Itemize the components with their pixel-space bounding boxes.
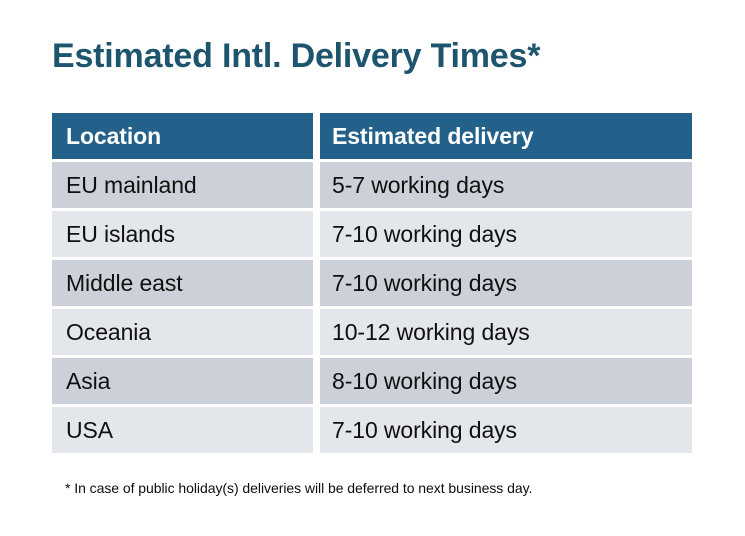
cell-estimated-delivery: 7-10 working days bbox=[320, 407, 692, 453]
table-row: EU mainland 5-7 working days bbox=[52, 162, 692, 208]
cell-estimated-delivery-value: 8-10 working days bbox=[332, 368, 517, 395]
cell-estimated-delivery: 7-10 working days bbox=[320, 260, 692, 306]
column-header-location: Location bbox=[52, 113, 313, 159]
column-header-estimated-delivery-label: Estimated delivery bbox=[332, 123, 533, 150]
cell-estimated-delivery-value: 7-10 working days bbox=[332, 221, 517, 248]
cell-location: Oceania bbox=[52, 309, 313, 355]
table-row: Oceania 10-12 working days bbox=[52, 309, 692, 355]
cell-location-value: USA bbox=[66, 417, 113, 444]
table-header-row: Location Estimated delivery bbox=[52, 113, 692, 159]
cell-estimated-delivery: 10-12 working days bbox=[320, 309, 692, 355]
column-header-location-label: Location bbox=[66, 123, 161, 150]
cell-location: Asia bbox=[52, 358, 313, 404]
footnote: * In case of public holiday(s) deliverie… bbox=[65, 480, 532, 496]
cell-location-value: Middle east bbox=[66, 270, 183, 297]
cell-estimated-delivery-value: 10-12 working days bbox=[332, 319, 530, 346]
table-row: Middle east 7-10 working days bbox=[52, 260, 692, 306]
page-title: Estimated Intl. Delivery Times* bbox=[52, 36, 540, 77]
cell-estimated-delivery-value: 7-10 working days bbox=[332, 270, 517, 297]
cell-estimated-delivery: 5-7 working days bbox=[320, 162, 692, 208]
cell-location: EU islands bbox=[52, 211, 313, 257]
cell-location: Middle east bbox=[52, 260, 313, 306]
table-row: Asia 8-10 working days bbox=[52, 358, 692, 404]
cell-location-value: EU mainland bbox=[66, 172, 197, 199]
cell-location: EU mainland bbox=[52, 162, 313, 208]
column-header-estimated-delivery: Estimated delivery bbox=[320, 113, 692, 159]
cell-location-value: Asia bbox=[66, 368, 110, 395]
cell-location-value: EU islands bbox=[66, 221, 175, 248]
cell-estimated-delivery: 7-10 working days bbox=[320, 211, 692, 257]
cell-estimated-delivery-value: 5-7 working days bbox=[332, 172, 504, 199]
table-row: EU islands 7-10 working days bbox=[52, 211, 692, 257]
cell-estimated-delivery-value: 7-10 working days bbox=[332, 417, 517, 444]
cell-location-value: Oceania bbox=[66, 319, 151, 346]
cell-estimated-delivery: 8-10 working days bbox=[320, 358, 692, 404]
table-row: USA 7-10 working days bbox=[52, 407, 692, 453]
delivery-times-page: Estimated Intl. Delivery Times* Location… bbox=[0, 0, 745, 536]
delivery-times-table: Location Estimated delivery EU mainland … bbox=[52, 113, 692, 453]
cell-location: USA bbox=[52, 407, 313, 453]
